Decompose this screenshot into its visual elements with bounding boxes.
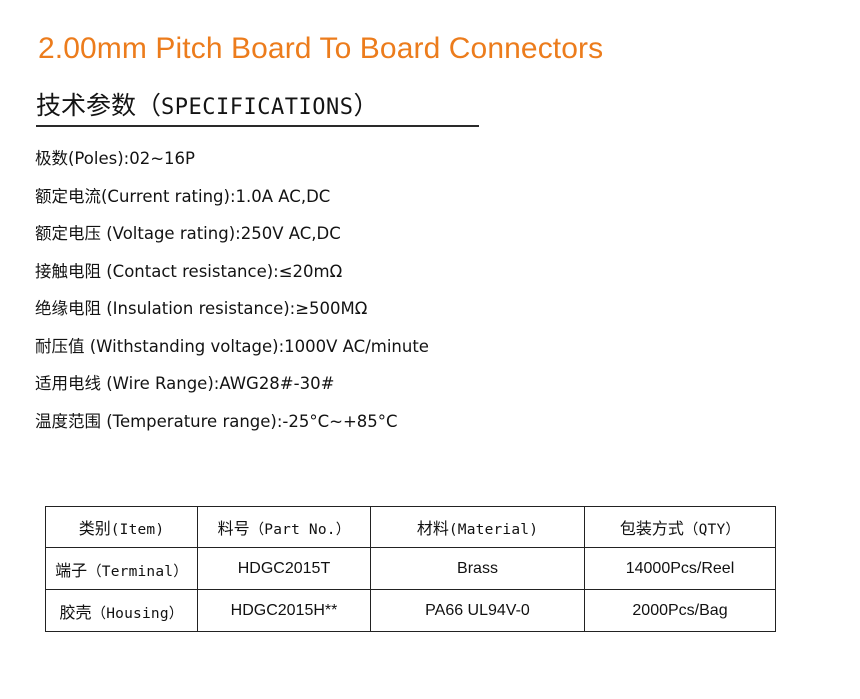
column-header-part-no: 料号（Part No.）: [198, 507, 371, 548]
column-header-item: 类别(Item): [46, 507, 198, 548]
spec-item-temperature-range: 温度范围 (Temperature range):-25°C~+85°C: [35, 403, 635, 441]
spec-item-insulation-resistance: 绝缘电阻 (Insulation resistance):≥500MΩ: [35, 290, 635, 328]
parts-table-container: 类别(Item) 料号（Part No.） 材料(Material) 包装方式（…: [45, 506, 771, 632]
specifications-heading: 技术参数（SPECIFICATIONS）: [36, 86, 378, 122]
column-header-qty-latin: （QTY）: [684, 522, 740, 538]
spec-item-poles: 极数(Poles):02~16P: [35, 140, 635, 178]
cell-item-terminal-latin: （Terminal）: [87, 564, 188, 580]
cell-qty-terminal: 14000Pcs/Reel: [585, 548, 776, 590]
table-row: 端子（Terminal） HDGC2015T Brass 14000Pcs/Re…: [46, 548, 776, 590]
cell-material-housing: PA66 UL94V-0: [371, 590, 585, 632]
spec-item-contact-resistance: 接触电阻 (Contact resistance):≤20mΩ: [35, 253, 635, 291]
page-title: 2.00mm Pitch Board To Board Connectors: [38, 32, 603, 66]
specifications-heading-close: ）: [353, 91, 378, 120]
specifications-heading-latin: SPECIFICATIONS: [161, 95, 353, 120]
parts-table: 类别(Item) 料号（Part No.） 材料(Material) 包装方式（…: [45, 506, 776, 632]
column-header-material-latin: (Material): [449, 522, 538, 538]
cell-qty-housing: 2000Pcs/Bag: [585, 590, 776, 632]
heading-divider: [36, 125, 479, 127]
column-header-item-latin: (Item): [111, 522, 165, 538]
cell-item-terminal-cjk: 端子: [55, 561, 87, 580]
specifications-heading-cjk: 技术参数（: [36, 91, 161, 120]
column-header-part-latin: （Part No.）: [250, 522, 351, 538]
column-header-material: 材料(Material): [371, 507, 585, 548]
column-header-part-cjk: 料号: [218, 519, 250, 538]
spec-item-current-rating: 额定电流(Current rating):1.0A AC,DC: [35, 178, 635, 216]
cell-part-no-housing: HDGC2015H**: [198, 590, 371, 632]
cell-part-no-terminal: HDGC2015T: [198, 548, 371, 590]
spec-item-voltage-rating: 额定电压 (Voltage rating):250V AC,DC: [35, 215, 635, 253]
datasheet-page: 2.00mm Pitch Board To Board Connectors 技…: [0, 0, 860, 699]
table-header-row: 类别(Item) 料号（Part No.） 材料(Material) 包装方式（…: [46, 507, 776, 548]
spec-item-withstanding-voltage: 耐压值 (Withstanding voltage):1000V AC/minu…: [35, 328, 635, 366]
table-row: 胶壳（Housing） HDGC2015H** PA66 UL94V-0 200…: [46, 590, 776, 632]
cell-item-housing-cjk: 胶壳: [60, 603, 92, 622]
cell-item-housing-latin: （Housing）: [92, 606, 184, 622]
column-header-material-cjk: 材料: [417, 519, 449, 538]
column-header-qty: 包装方式（QTY）: [585, 507, 776, 548]
cell-item-housing: 胶壳（Housing）: [46, 590, 198, 632]
cell-item-terminal: 端子（Terminal）: [46, 548, 198, 590]
cell-material-terminal: Brass: [371, 548, 585, 590]
specification-list: 极数(Poles):02~16P 额定电流(Current rating):1.…: [35, 140, 635, 440]
column-header-item-cjk: 类别: [79, 519, 111, 538]
spec-item-wire-range: 适用电线 (Wire Range):AWG28#-30#: [35, 365, 635, 403]
column-header-qty-cjk: 包装方式: [620, 519, 684, 538]
